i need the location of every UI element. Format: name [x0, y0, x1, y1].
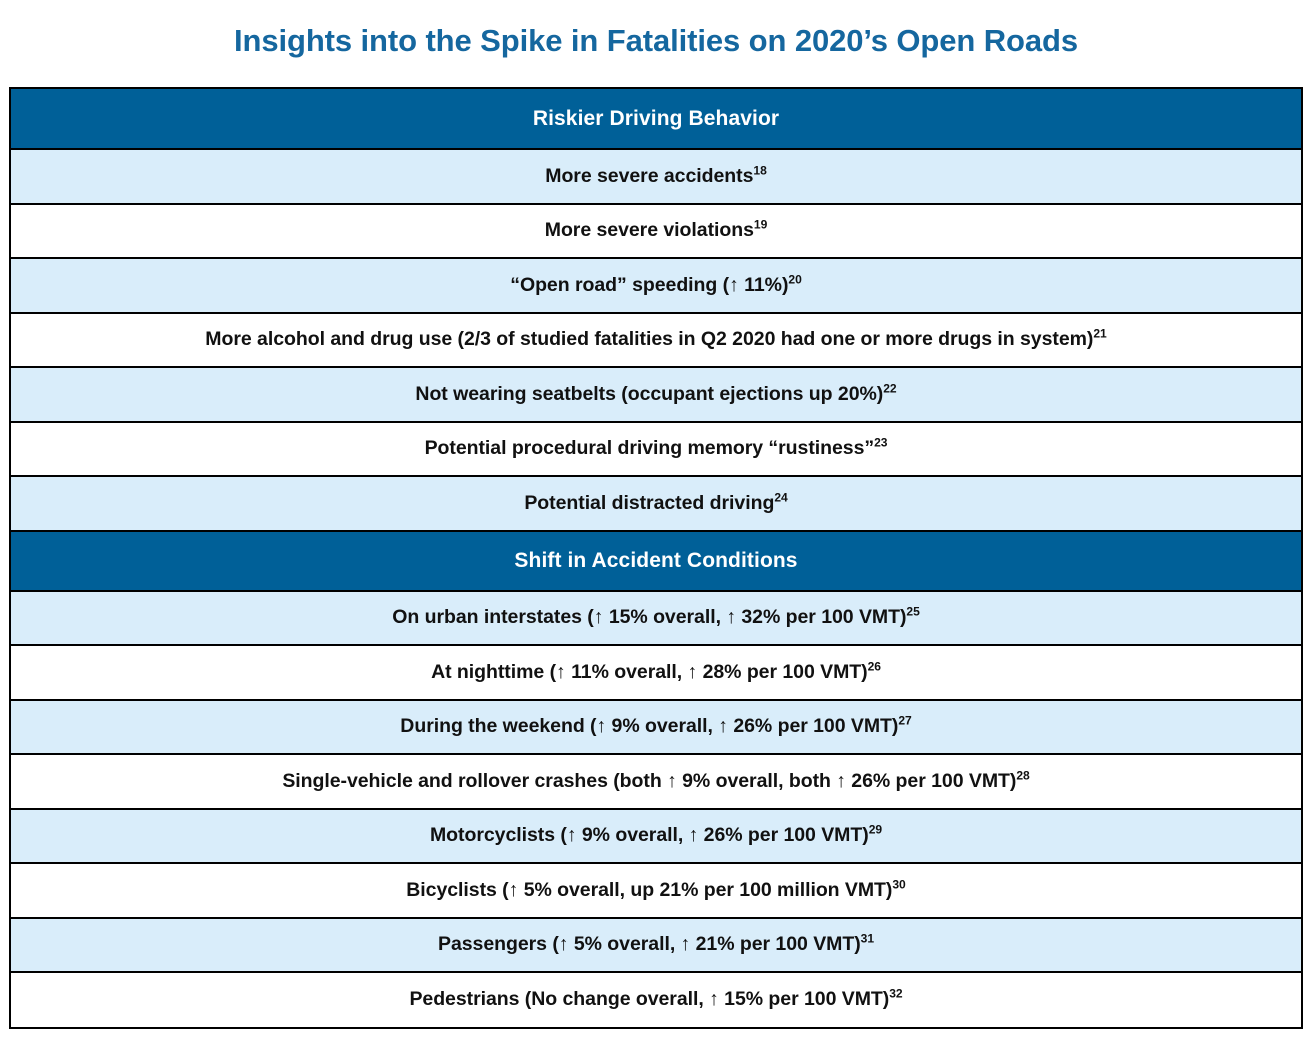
footnote-marker: 26: [868, 659, 881, 673]
table-cell: Potential distracted driving24: [11, 476, 1301, 531]
table-cell: Bicyclists (↑ 5% overall, up 21% per 100…: [11, 863, 1301, 918]
footnote-marker: 25: [906, 605, 919, 619]
footnote-marker: 19: [754, 218, 767, 232]
row-label: During the weekend (↑ 9% overall, ↑ 26% …: [400, 715, 898, 737]
table-row: Pedestrians (No change overall, ↑ 15% pe…: [11, 972, 1301, 1027]
table-row: Potential procedural driving memory “rus…: [11, 422, 1301, 477]
footnote-marker: 22: [883, 381, 896, 395]
footnote-marker: 30: [892, 877, 905, 891]
row-label: On urban interstates (↑ 15% overall, ↑ 3…: [392, 606, 906, 628]
table-row: Not wearing seatbelts (occupant ejection…: [11, 367, 1301, 422]
table-row: Potential distracted driving24: [11, 476, 1301, 531]
footnote-marker: 27: [898, 714, 911, 728]
table-row: More alcohol and drug use (2/3 of studie…: [11, 313, 1301, 368]
table-row: More severe violations19: [11, 204, 1301, 259]
footnote-marker: 32: [889, 987, 902, 1001]
table-cell: On urban interstates (↑ 15% overall, ↑ 3…: [11, 591, 1301, 646]
section-header-label: Riskier Driving Behavior: [11, 89, 1301, 149]
table-cell: Single-vehicle and rollover crashes (bot…: [11, 754, 1301, 809]
insights-table-body: Riskier Driving BehaviorMore severe acci…: [11, 89, 1301, 1027]
footnote-marker: 28: [1016, 768, 1029, 782]
row-label: Not wearing seatbelts (occupant ejection…: [415, 383, 883, 405]
row-label: More alcohol and drug use (2/3 of studie…: [205, 328, 1093, 350]
page-title: Insights into the Spike in Fatalities on…: [0, 0, 1312, 56]
table-cell: During the weekend (↑ 9% overall, ↑ 26% …: [11, 700, 1301, 755]
row-label: Bicyclists (↑ 5% overall, up 21% per 100…: [406, 879, 892, 901]
footnote-marker: 20: [788, 272, 801, 286]
table-row: During the weekend (↑ 9% overall, ↑ 26% …: [11, 700, 1301, 755]
table-row: Motorcyclists (↑ 9% overall, ↑ 26% per 1…: [11, 809, 1301, 864]
row-label: “Open road” speeding (↑ 11%): [510, 274, 788, 296]
footnote-marker: 29: [869, 823, 882, 837]
table-cell: Potential procedural driving memory “rus…: [11, 422, 1301, 477]
row-label: Potential distracted driving: [524, 492, 774, 514]
table-cell: At nighttime (↑ 11% overall, ↑ 28% per 1…: [11, 645, 1301, 700]
infographic-page: Insights into the Spike in Fatalities on…: [0, 0, 1312, 1039]
table-row: Single-vehicle and rollover crashes (bot…: [11, 754, 1301, 809]
table-cell: “Open road” speeding (↑ 11%)20: [11, 258, 1301, 313]
row-label: More severe accidents: [545, 165, 753, 187]
row-label: At nighttime (↑ 11% overall, ↑ 28% per 1…: [431, 661, 868, 683]
row-label: More severe violations: [545, 219, 754, 241]
section-header-row: Shift in Accident Conditions: [11, 531, 1301, 591]
footnote-marker: 31: [861, 932, 874, 946]
table-cell: Not wearing seatbelts (occupant ejection…: [11, 367, 1301, 422]
table-cell: More alcohol and drug use (2/3 of studie…: [11, 313, 1301, 368]
footnote-marker: 21: [1093, 327, 1106, 341]
row-label: Single-vehicle and rollover crashes (bot…: [282, 770, 1016, 792]
insights-table-wrapper: Riskier Driving BehaviorMore severe acci…: [9, 87, 1303, 1029]
table-cell: Motorcyclists (↑ 9% overall, ↑ 26% per 1…: [11, 809, 1301, 864]
table-row: Bicyclists (↑ 5% overall, up 21% per 100…: [11, 863, 1301, 918]
footnote-marker: 24: [774, 490, 787, 504]
table-row: At nighttime (↑ 11% overall, ↑ 28% per 1…: [11, 645, 1301, 700]
section-header-label: Shift in Accident Conditions: [11, 531, 1301, 591]
section-header-row: Riskier Driving Behavior: [11, 89, 1301, 149]
table-row: More severe accidents18: [11, 149, 1301, 204]
insights-table: Riskier Driving BehaviorMore severe acci…: [11, 89, 1301, 1027]
table-row: “Open road” speeding (↑ 11%)20: [11, 258, 1301, 313]
footnote-marker: 18: [753, 163, 766, 177]
table-row: Passengers (↑ 5% overall, ↑ 21% per 100 …: [11, 918, 1301, 973]
table-cell: More severe violations19: [11, 204, 1301, 259]
row-label: Passengers (↑ 5% overall, ↑ 21% per 100 …: [438, 933, 861, 955]
table-cell: Pedestrians (No change overall, ↑ 15% pe…: [11, 972, 1301, 1027]
row-label: Pedestrians (No change overall, ↑ 15% pe…: [409, 988, 889, 1010]
table-cell: More severe accidents18: [11, 149, 1301, 204]
row-label: Potential procedural driving memory “rus…: [425, 437, 875, 459]
row-label: Motorcyclists (↑ 9% overall, ↑ 26% per 1…: [430, 824, 869, 846]
table-cell: Passengers (↑ 5% overall, ↑ 21% per 100 …: [11, 918, 1301, 973]
footnote-marker: 23: [874, 436, 887, 450]
table-row: On urban interstates (↑ 15% overall, ↑ 3…: [11, 591, 1301, 646]
